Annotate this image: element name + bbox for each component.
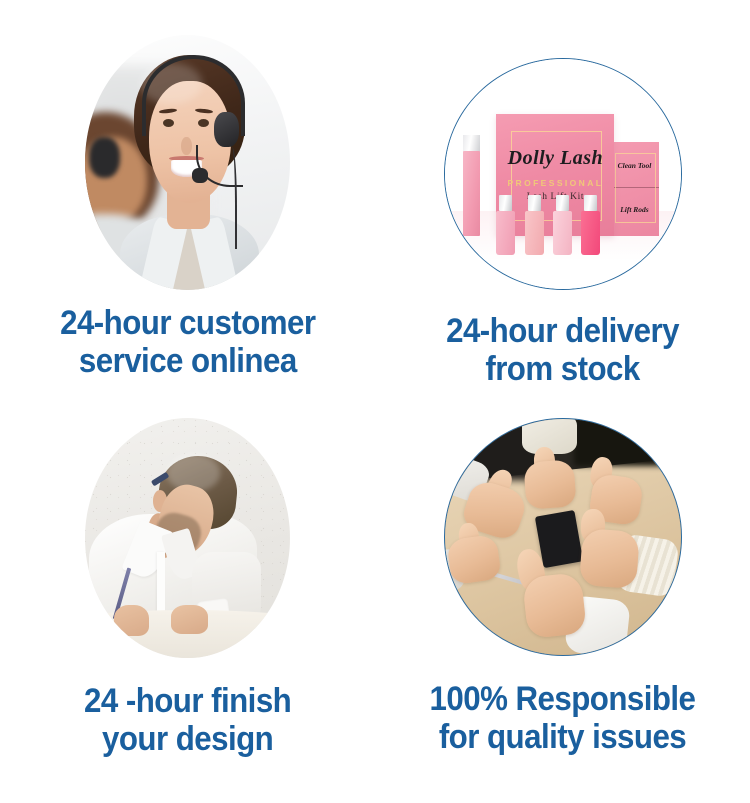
feature-caption-design: 24 -hour finish your design <box>84 682 291 758</box>
thumbs-up-photo <box>444 418 682 656</box>
product-bottle <box>581 211 600 255</box>
feature-caption-customer-service: 24-hour customer service onlinea <box>60 304 315 380</box>
product-bottle <box>553 211 572 255</box>
thumbs-up-icon <box>523 460 576 511</box>
feature-caption-delivery: 24-hour delivery from stock <box>446 312 679 388</box>
thumbs-up-icon <box>579 528 639 588</box>
feature-card-design[interactable]: 24 -hour finish your design <box>0 400 375 803</box>
product-bottle <box>496 211 515 255</box>
feature-grid: 24-hour customer service onlinea Clean T… <box>0 0 750 803</box>
thumbs-up-icon <box>522 572 587 639</box>
product-side-boxes: Clean Tool Lift Rods <box>610 142 660 236</box>
product-applicator-tube <box>463 151 480 236</box>
thumbs-up-icon <box>446 534 501 585</box>
product-bottle <box>525 211 544 255</box>
product-brand-name: Dolly Lash <box>496 147 614 170</box>
phone-icon <box>535 510 584 568</box>
feature-caption-quality: 100% Responsible for quality issues <box>430 680 696 756</box>
customer-service-photo <box>85 35 290 290</box>
product-tier-label: PROFESSIONAL <box>496 178 614 188</box>
feature-card-customer-service[interactable]: 24-hour customer service onlinea <box>0 0 375 400</box>
lash-lift-kit-photo: Clean Tool Lift Rods Dolly Lash PROFESSI… <box>444 58 682 290</box>
side-box-top-label: Clean Tool <box>610 161 660 170</box>
feature-card-quality[interactable]: 100% Responsible for quality issues <box>375 400 750 803</box>
feature-card-delivery[interactable]: Clean Tool Lift Rods Dolly Lash PROFESSI… <box>375 0 750 400</box>
side-box-bottom-label: Lift Rods <box>610 205 660 214</box>
designer-photo <box>85 418 290 658</box>
feature-banner: 24-hour customer service onlinea Clean T… <box>0 0 750 803</box>
